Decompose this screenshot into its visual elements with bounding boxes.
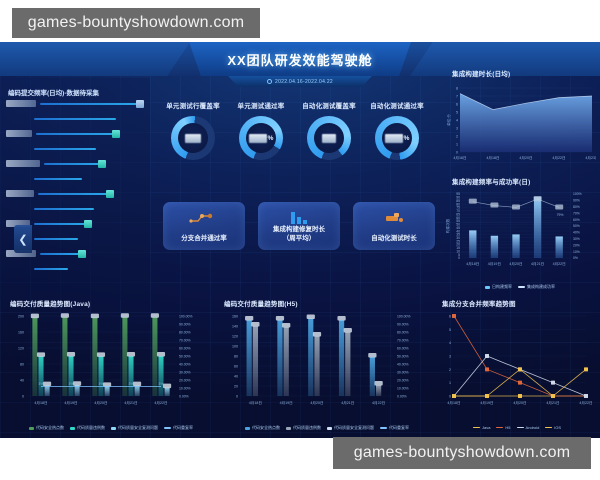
- chart-title-quality-h5: 编码交付质量趋势图(H5): [224, 298, 436, 308]
- svg-text:40: 40: [234, 375, 238, 379]
- legend-swatch: [286, 427, 291, 430]
- bar: [92, 318, 97, 396]
- legend-item[interactable]: 代码安全热点数: [29, 425, 64, 431]
- bar: [62, 317, 67, 396]
- svg-text:60.00%: 60.00%: [397, 346, 409, 350]
- svg-text:单位:分: 单位:分: [446, 114, 451, 126]
- data-point: [518, 394, 522, 398]
- svg-text:120: 120: [18, 347, 24, 351]
- chart-build-freq-success: 集成构建频率与成功率(日) 05101520253035404550556065…: [444, 176, 596, 298]
- metric-card-1[interactable]: 集成构建修复时长（周平均）: [258, 202, 340, 250]
- data-point: [485, 394, 489, 398]
- data-point: [452, 394, 456, 398]
- commit-freq-row: [6, 100, 146, 109]
- svg-text:60: 60: [234, 365, 238, 369]
- data-point: [518, 381, 522, 385]
- build-duration-area-svg: 0123456784月16日4月18日4月20日4月22日4月23日单位:分: [444, 78, 596, 168]
- svg-text:3: 3: [449, 355, 451, 359]
- svg-text:30%: 30%: [573, 237, 580, 241]
- svg-text:40.00%: 40.00%: [179, 362, 191, 366]
- commit-freq-knob: [98, 160, 106, 168]
- svg-text:4月20日: 4月20日: [513, 400, 526, 405]
- gauge-2[interactable]: 自动化测试覆盖率: [296, 100, 362, 160]
- metric-card-label: 分支合并通过率: [181, 235, 227, 244]
- clock-icon: [267, 79, 272, 84]
- gauge-ring: %: [375, 116, 419, 160]
- bar: [98, 356, 103, 396]
- svg-text:4月16日: 4月16日: [453, 155, 466, 160]
- gauge-title: 自动化测试通过率: [364, 100, 430, 110]
- metric-card-2[interactable]: 自动化测试时长: [353, 202, 435, 250]
- chart-merge-freq: 集成分支合并频率趋势图 01234564月18日4月19日4月20日4月21日4…: [436, 298, 598, 438]
- legend-item[interactable]: 代码质量安全复测问题: [111, 425, 158, 431]
- svg-text:4月22日: 4月22日: [552, 155, 565, 160]
- svg-text:4月20日: 4月20日: [94, 400, 107, 405]
- svg-text:1: 1: [456, 142, 458, 146]
- commit-freq-row-label: [6, 160, 40, 167]
- legend-swatch: [517, 427, 524, 429]
- svg-text:79%: 79%: [557, 213, 564, 217]
- gauge-3[interactable]: 自动化测试通过率%: [364, 100, 430, 160]
- svg-text:70.00%: 70.00%: [179, 338, 191, 342]
- legend-label: 日构建频率: [492, 284, 512, 290]
- bar: [314, 336, 319, 396]
- legend-item[interactable]: Android: [517, 425, 540, 430]
- legend-label: 代码质量违例数: [293, 425, 321, 431]
- chart-title-build-duration: 集成构建时长(日均): [452, 68, 596, 78]
- svg-text:90.00%: 90.00%: [179, 322, 191, 326]
- bar: [68, 356, 73, 396]
- legend-item[interactable]: iOS: [545, 425, 561, 430]
- svg-text:80%: 80%: [573, 205, 580, 209]
- svg-text:0: 0: [449, 395, 451, 399]
- svg-text:4月19日: 4月19日: [280, 400, 293, 405]
- merge-freq-svg: 01234564月18日4月19日4月20日4月21日4月22日: [436, 308, 598, 420]
- svg-text:140: 140: [232, 325, 238, 329]
- svg-text:构建次数: 构建次数: [445, 218, 450, 233]
- svg-text:10.00%: 10.00%: [179, 386, 191, 390]
- svg-text:2: 2: [456, 134, 458, 138]
- svg-text:4月21日: 4月21日: [124, 400, 137, 405]
- legend-swatch: [496, 427, 503, 429]
- legend-label: 代码安全热点数: [36, 425, 64, 431]
- svg-text:80.00%: 80.00%: [397, 330, 409, 334]
- bar: [75, 385, 80, 396]
- watermark-bottom: games-bountyshowdown.com: [333, 437, 591, 469]
- svg-text:30.00%: 30.00%: [397, 370, 409, 374]
- legend-label: H5: [505, 425, 510, 430]
- legend-item[interactable]: 日构建频率: [485, 284, 512, 290]
- commit-freq-bar: [44, 163, 100, 165]
- svg-text:100%: 100%: [573, 192, 582, 196]
- svg-text:4月18日: 4月18日: [34, 400, 47, 405]
- svg-text:10.00%: 10.00%: [397, 386, 409, 390]
- commit-freq-knob: [78, 250, 86, 258]
- svg-text:4月18日: 4月18日: [249, 400, 262, 405]
- legend-item[interactable]: 代码安全热点数: [245, 425, 280, 431]
- watermark-top: games-bountyshowdown.com: [12, 8, 260, 38]
- bar: [135, 386, 140, 396]
- build-freq-bars-svg: 051015202530354045505560657075808590950%…: [444, 186, 596, 278]
- svg-text:2: 2: [449, 368, 451, 372]
- legend-label: iOS: [554, 425, 561, 430]
- left-panel-title: 编码提交频率(日均)-数据待采集: [8, 87, 99, 97]
- bar: [122, 317, 127, 396]
- svg-text:4: 4: [449, 341, 451, 345]
- legend-item[interactable]: H5: [496, 425, 510, 430]
- gauge-0[interactable]: 单元测试行覆盖率: [160, 100, 226, 160]
- svg-text:3: 3: [456, 126, 458, 130]
- legend-swatch: [29, 427, 34, 430]
- data-point: [452, 314, 456, 318]
- svg-text:4月19日: 4月19日: [488, 261, 501, 266]
- metric-card-label: 集成构建修复时长（周平均）: [273, 226, 325, 244]
- bar-build-icon: [258, 210, 340, 226]
- commit-freq-row: [6, 265, 146, 274]
- svg-text:5: 5: [449, 328, 451, 332]
- bar: [284, 327, 289, 396]
- commit-freq-row: [6, 190, 146, 199]
- data-point: [485, 354, 489, 358]
- bar: [534, 197, 541, 258]
- bar: [128, 356, 133, 396]
- bar: [469, 230, 476, 258]
- svg-text:1: 1: [449, 381, 451, 385]
- commit-freq-knob: [136, 100, 144, 108]
- dashboard-screenshot: games-bountyshowdown.com XX团队研发效能驾驶舱 202…: [0, 0, 600, 480]
- gauge-title: 自动化测试覆盖率: [296, 100, 362, 110]
- svg-text:40.00%: 40.00%: [397, 362, 409, 366]
- dashboard-canvas: XX团队研发效能驾驶舱 2022.04.16-2022.04.22 编码提交频率…: [0, 42, 600, 438]
- data-point: [584, 367, 588, 371]
- metric-card-label: 自动化测试时长: [371, 235, 417, 244]
- svg-text:80: 80: [234, 355, 238, 359]
- chevron-left-icon[interactable]: ❮: [14, 225, 32, 253]
- svg-text:6: 6: [456, 102, 458, 106]
- commit-freq-knob: [112, 130, 120, 138]
- bar: [308, 319, 313, 397]
- commit-freq-bar: [34, 208, 94, 210]
- legend-item[interactable]: Java: [473, 425, 490, 430]
- data-point: [584, 394, 588, 398]
- bar: [512, 234, 519, 258]
- svg-text:160: 160: [232, 315, 238, 319]
- legend-swatch: [473, 427, 480, 429]
- svg-text:4月19日: 4月19日: [64, 400, 77, 405]
- commit-freq-bar: [38, 193, 108, 195]
- legend-quality-java: 代码安全热点数代码质量违例数代码质量安全复测问题代码重复率: [4, 425, 218, 431]
- svg-text:0: 0: [22, 395, 24, 399]
- legend-item[interactable]: 代码质量安全复测问题: [327, 425, 374, 431]
- bar: [105, 386, 110, 396]
- svg-text:40%: 40%: [573, 231, 580, 235]
- bar: [38, 356, 43, 396]
- svg-text:100: 100: [232, 345, 238, 349]
- svg-text:50.00%: 50.00%: [179, 354, 191, 358]
- quality-java-svg: 040801201602000.00%10.00%20.00%30.00%40.…: [4, 308, 218, 420]
- bar: [152, 317, 157, 396]
- gauge-value: [171, 116, 215, 160]
- svg-text:4月21日: 4月21日: [546, 400, 559, 405]
- gauge-title: 单元测试通过率: [228, 100, 294, 110]
- svg-text:70%: 70%: [573, 211, 580, 215]
- legend-item[interactable]: 集成构建成功率: [518, 284, 555, 290]
- bar: [158, 356, 163, 396]
- bar: [45, 386, 50, 396]
- commit-freq-bar: [34, 223, 86, 225]
- legend-swatch: [164, 427, 171, 429]
- bar: [370, 357, 375, 396]
- legend-item[interactable]: 代码重复率: [380, 425, 409, 431]
- redacted-value: [385, 134, 403, 143]
- svg-text:30.00%: 30.00%: [179, 370, 191, 374]
- svg-text:4月23日: 4月23日: [585, 155, 596, 160]
- svg-text:0: 0: [236, 395, 238, 399]
- bar: [32, 318, 37, 396]
- gauge-ring: %: [239, 116, 283, 160]
- svg-text:80: 80: [20, 363, 24, 367]
- svg-text:4月22日: 4月22日: [553, 261, 566, 266]
- svg-text:4月18日: 4月18日: [486, 155, 499, 160]
- series-line: [454, 356, 586, 396]
- commit-freq-bar: [34, 148, 96, 150]
- commit-freq-bar: [34, 238, 78, 240]
- commit-freq-row-label: [6, 130, 32, 137]
- svg-text:4月21日: 4月21日: [341, 400, 354, 405]
- legend-label: 代码质量安全复测问题: [118, 425, 158, 431]
- svg-text:90.00%: 90.00%: [397, 322, 409, 326]
- svg-text:160: 160: [18, 331, 24, 335]
- gauge-title: 单元测试行覆盖率: [160, 100, 226, 110]
- title-plate: XX团队研发效能驾驶舱: [182, 42, 418, 76]
- timer-icon: [353, 210, 435, 226]
- redacted-value: [322, 134, 336, 143]
- legend-swatch: [545, 427, 552, 429]
- svg-text:4: 4: [456, 118, 458, 122]
- svg-text:4月21日: 4月21日: [531, 261, 544, 266]
- gauge-value: %: [375, 116, 419, 160]
- legend-label: 集成构建成功率: [527, 284, 555, 290]
- gauge-1[interactable]: 单元测试通过率%: [228, 100, 294, 160]
- commit-freq-row: [6, 175, 146, 184]
- date-range-plate: 2022.04.16-2022.04.22: [228, 76, 372, 87]
- svg-text:100.00%: 100.00%: [179, 314, 192, 318]
- svg-text:0.00%: 0.00%: [397, 394, 407, 398]
- legend-quality-h5: 代码安全热点数代码质量违例数代码质量安全复测问题代码重复率: [218, 425, 436, 431]
- chart-title-merge-freq: 集成分支合并频率趋势图: [442, 298, 598, 308]
- svg-text:0: 0: [456, 150, 458, 154]
- metric-card-0[interactable]: 分支合并通过率: [163, 202, 245, 250]
- svg-text:3%: 3%: [98, 382, 104, 386]
- svg-text:20: 20: [234, 385, 238, 389]
- bar: [253, 326, 258, 396]
- legend-build-freq: 日构建频率集成构建成功率: [444, 284, 596, 290]
- bar: [345, 332, 350, 396]
- legend-swatch: [518, 286, 525, 288]
- commit-freq-bar: [40, 253, 80, 255]
- svg-text:3%: 3%: [158, 382, 164, 386]
- svg-text:80.00%: 80.00%: [179, 330, 191, 334]
- chart-title-build-freq: 集成构建频率与成功率(日): [452, 176, 596, 186]
- svg-text:4月18日: 4月18日: [466, 261, 479, 266]
- svg-text:4月22日: 4月22日: [579, 400, 592, 405]
- bar: [247, 320, 252, 396]
- legend-label: Java: [482, 425, 490, 430]
- svg-text:100.00%: 100.00%: [397, 314, 410, 318]
- gauge-value: [307, 116, 351, 160]
- svg-text:0%: 0%: [573, 256, 578, 260]
- chart-quality-java: 编码交付质量趋势图(Java) 040801201602000.00%10.00…: [4, 298, 218, 438]
- svg-text:8: 8: [456, 86, 458, 90]
- legend-label: 代码安全热点数: [252, 425, 280, 431]
- data-point: [551, 381, 555, 385]
- commit-freq-bar: [34, 118, 116, 120]
- svg-text:90%: 90%: [573, 199, 580, 203]
- legend-label: Android: [526, 425, 540, 430]
- commit-freq-row-label: [6, 190, 34, 197]
- svg-text:70.00%: 70.00%: [397, 338, 409, 342]
- chart-build-duration: 集成构建时长(日均) 0123456784月16日4月18日4月20日4月22日…: [444, 68, 596, 172]
- svg-text:60.00%: 60.00%: [179, 346, 191, 350]
- svg-text:20.00%: 20.00%: [179, 378, 191, 382]
- quality-h5-svg: 0204060801001201401600.00%10.00%20.00%30…: [218, 308, 436, 420]
- redacted-value: [249, 134, 267, 143]
- svg-text:3%: 3%: [128, 382, 134, 386]
- data-point: [518, 367, 522, 371]
- legend-merge-freq: JavaH5AndroidiOS: [436, 425, 598, 430]
- svg-text:40: 40: [20, 379, 24, 383]
- legend-swatch: [485, 286, 490, 289]
- code-commit-frequency-panel: 编码提交频率(日均)-数据待采集: [0, 78, 150, 300]
- legend-swatch: [380, 427, 387, 429]
- svg-text:20%: 20%: [573, 243, 580, 247]
- legend-swatch: [111, 427, 116, 430]
- svg-text:4月19日: 4月19日: [480, 400, 493, 405]
- svg-text:4月18日: 4月18日: [447, 400, 460, 405]
- svg-text:4月20日: 4月20日: [310, 400, 323, 405]
- svg-text:20.00%: 20.00%: [397, 378, 409, 382]
- svg-text:0.00%: 0.00%: [179, 394, 189, 398]
- data-point: [485, 367, 489, 371]
- commit-freq-row: [6, 145, 146, 154]
- legend-swatch: [70, 427, 75, 430]
- svg-text:10%: 10%: [573, 250, 580, 254]
- header-wing-left: [0, 42, 190, 76]
- redacted-value: [185, 134, 201, 143]
- svg-text:4月20日: 4月20日: [519, 155, 532, 160]
- bar: [376, 385, 381, 396]
- legend-swatch: [327, 427, 332, 430]
- commit-freq-knob: [106, 190, 114, 198]
- legend-swatch: [245, 427, 250, 430]
- svg-text:3%: 3%: [38, 382, 44, 386]
- svg-text:3%: 3%: [68, 382, 74, 386]
- commit-freq-knob: [84, 220, 92, 228]
- bar: [491, 236, 498, 258]
- legend-label: 代码质量违例数: [77, 425, 105, 431]
- gauge-ring: [307, 116, 351, 160]
- svg-text:4月22日: 4月22日: [372, 400, 385, 405]
- chart-title-quality-java: 编码交付质量趋势图(Java): [10, 298, 218, 308]
- bar: [556, 236, 563, 258]
- svg-text:95: 95: [456, 192, 460, 196]
- merge-branch-icon: [163, 210, 245, 226]
- commit-freq-row: [6, 130, 146, 139]
- commit-freq-bar: [40, 103, 138, 105]
- legend-label: 代码质量安全复测问题: [334, 425, 374, 431]
- svg-text:5: 5: [456, 110, 458, 114]
- svg-text:50.00%: 50.00%: [397, 354, 409, 358]
- commit-freq-bar: [34, 268, 68, 270]
- commit-freq-row: [6, 160, 146, 169]
- data-point: [551, 394, 555, 398]
- commit-freq-bar: [34, 178, 82, 180]
- svg-text:60%: 60%: [573, 218, 580, 222]
- svg-text:4月20日: 4月20日: [509, 261, 522, 266]
- svg-text:200: 200: [18, 315, 24, 319]
- svg-text:4月22日: 4月22日: [154, 400, 167, 405]
- gauge-ring: [171, 116, 215, 160]
- svg-text:120: 120: [232, 335, 238, 339]
- svg-text:50%: 50%: [573, 224, 580, 228]
- chart-quality-h5: 编码交付质量趋势图(H5) 0204060801001201401600.00%…: [218, 298, 436, 438]
- bar: [277, 320, 282, 396]
- svg-text:6: 6: [449, 315, 451, 319]
- commit-freq-row: [6, 115, 146, 124]
- legend-item[interactable]: 代码质量违例数: [286, 425, 321, 431]
- legend-item[interactable]: 代码重复率: [164, 425, 193, 431]
- date-range-text: 2022.04.16-2022.04.22: [275, 79, 333, 85]
- legend-label: 代码重复率: [173, 425, 193, 431]
- legend-label: 代码重复率: [389, 425, 409, 431]
- bar: [339, 320, 344, 396]
- gauge-value: %: [239, 116, 283, 160]
- commit-freq-row-label: [6, 100, 36, 107]
- bar: [165, 388, 170, 396]
- commit-freq-bar: [36, 133, 114, 135]
- svg-text:7: 7: [456, 94, 458, 98]
- legend-item[interactable]: 代码质量违例数: [70, 425, 105, 431]
- page-title: XX团队研发效能驾驶舱: [227, 50, 372, 69]
- commit-freq-row: [6, 205, 146, 214]
